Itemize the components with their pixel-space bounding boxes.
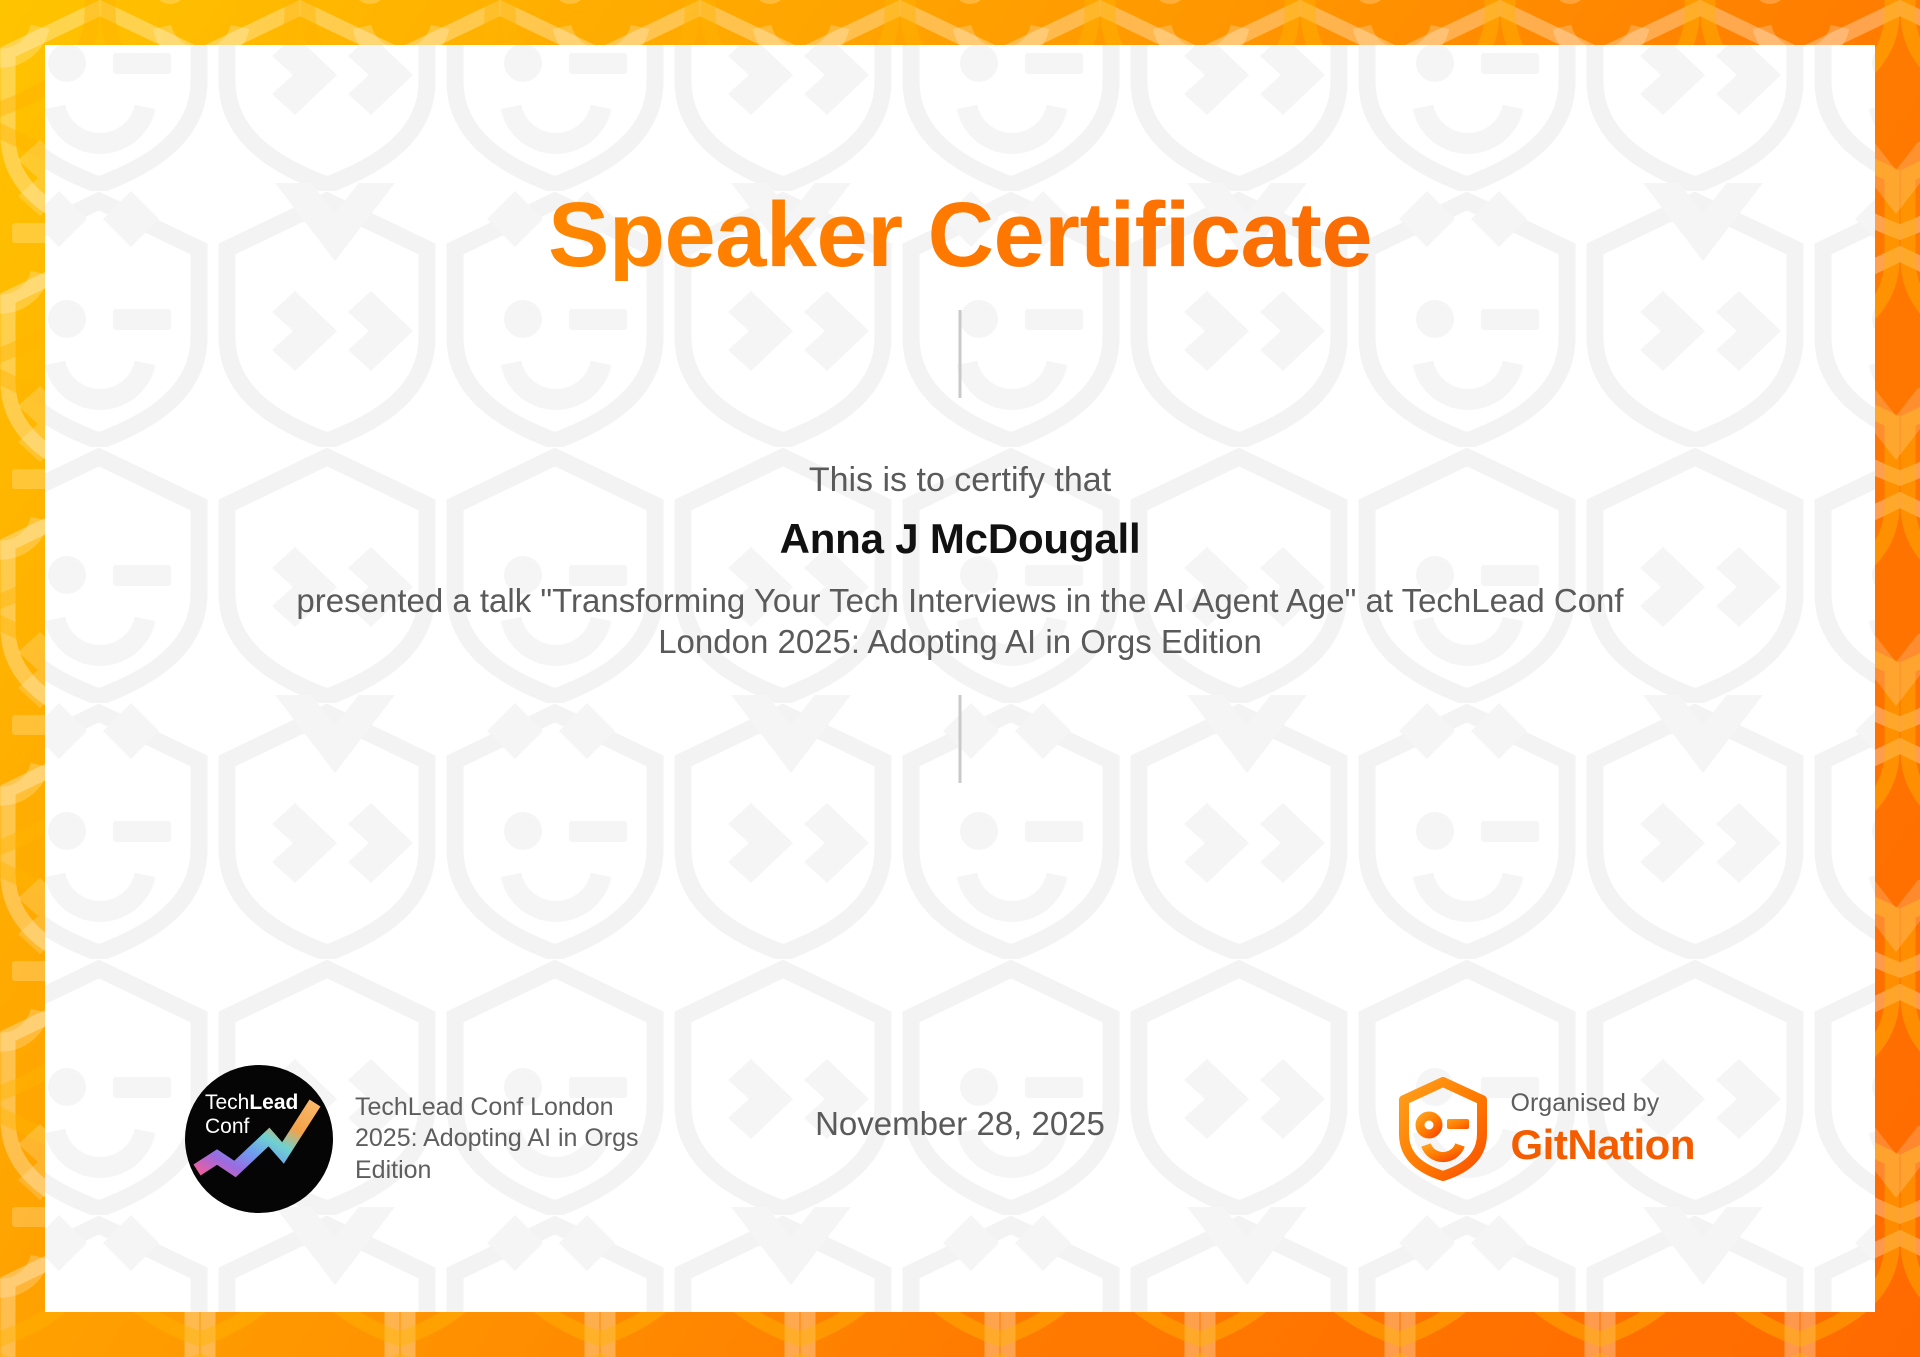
page-title: Speaker Certificate — [45, 189, 1875, 281]
organiser-block: Organised by GitNation — [1397, 1077, 1695, 1181]
certify-line: This is to certify that — [45, 461, 1875, 500]
divider-bottom — [959, 695, 962, 783]
organiser-text: Organised by GitNation — [1511, 1090, 1695, 1168]
divider-top — [959, 310, 962, 398]
organiser-name: GitNation — [1511, 1122, 1695, 1168]
recipient-name: Anna J McDougall — [45, 515, 1875, 563]
certificate-frame: Speaker Certificate This is to certify t… — [0, 0, 1920, 1357]
talk-description: presented a talk "Transforming Your Tech… — [250, 581, 1670, 662]
certificate-card: Speaker Certificate This is to certify t… — [45, 45, 1875, 1312]
organiser-prefix: Organised by — [1511, 1090, 1695, 1118]
certificate-footer: TechLead Conf — [45, 1057, 1875, 1237]
gitnation-shield-mask-icon — [1397, 1077, 1489, 1181]
